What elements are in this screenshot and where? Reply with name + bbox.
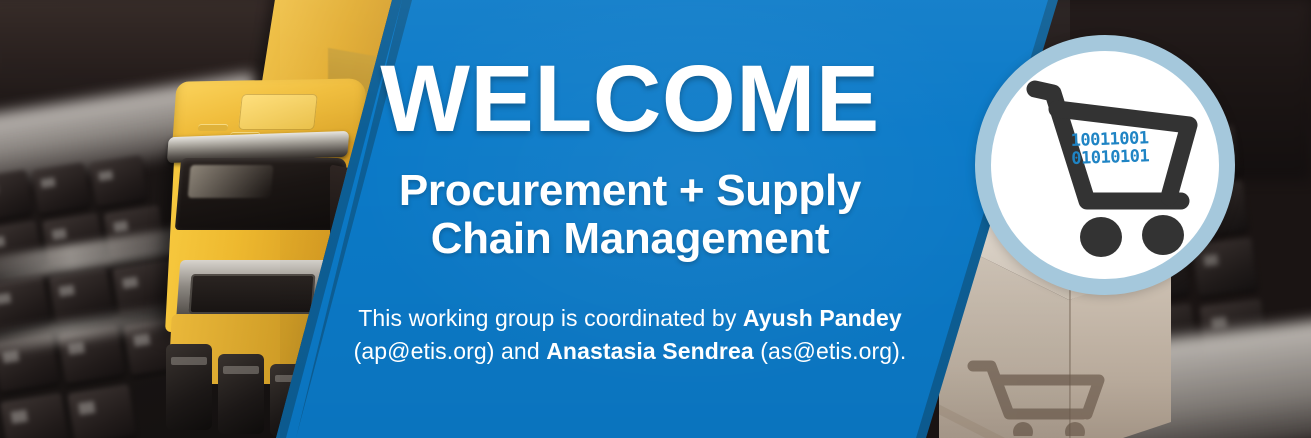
subtitle-line-1: Procurement + Supply [399, 166, 861, 215]
coordinator-1-email: (ap@etis.org) and [354, 338, 547, 364]
logo-badge: 10011001 01010101 [975, 35, 1235, 295]
box-cart-print-icon [965, 356, 1115, 436]
subtitle: Procurement + Supply Chain Management [399, 167, 861, 262]
coordinator-1-name: Ayush Pandey [743, 305, 902, 331]
truck-tire [166, 344, 212, 430]
coordinator-2-name: Anastasia Sendrea [546, 338, 754, 364]
coordinator-text-prefix: This working group is coordinated by [358, 305, 743, 331]
truck-grille [189, 274, 316, 314]
binary-code-text: 10011001 01010101 [1070, 123, 1184, 173]
coordinator-text: This working group is coordinated by Ayu… [300, 302, 960, 367]
page-title: WELCOME [380, 56, 880, 143]
truck-tire [218, 354, 264, 434]
welcome-banner: WELCOME Procurement + Supply Chain Manag… [0, 0, 1311, 438]
coordinator-2-email: (as@etis.org). [754, 338, 907, 364]
truck-roof-rib [198, 124, 229, 131]
binary-line-2: 01010101 [1071, 146, 1184, 168]
subtitle-line-2: Chain Management [399, 215, 861, 263]
banner-content: WELCOME Procurement + Supply Chain Manag… [300, 0, 960, 438]
